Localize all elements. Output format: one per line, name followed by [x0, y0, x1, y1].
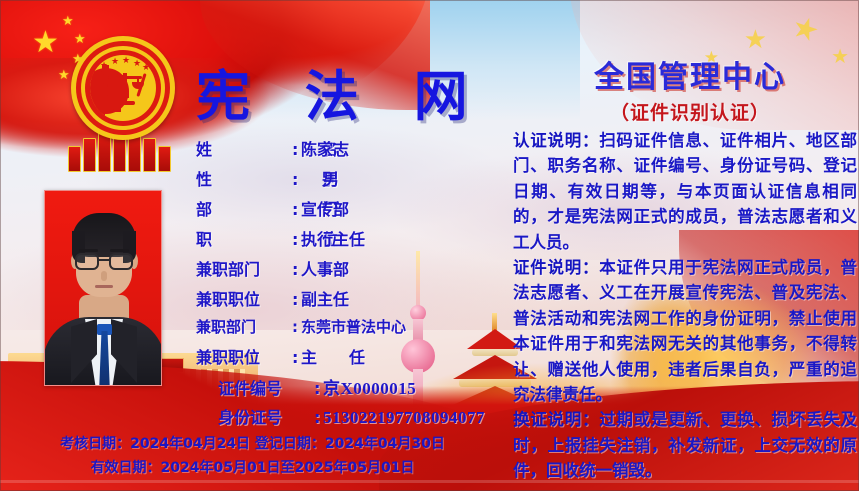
- replacement-note: 换证说明：过期或是更新、更换、损坏丢失及时，上报挂失注销，补发新证，上交无效的原…: [513, 407, 857, 483]
- field-concurrent-department-2-value: 东莞市普法中心: [301, 316, 406, 337]
- field-concurrent-department-label: 兼职部门: [196, 256, 292, 280]
- field-position-label: 职 位: [196, 226, 292, 250]
- field-concurrent-position-2-value: 主 任: [301, 344, 365, 368]
- field-colon: :: [314, 379, 323, 398]
- field-gender: 性 别 : 男: [196, 166, 496, 196]
- flag-star-icon: ★: [744, 24, 767, 55]
- validity-dates: 有效日期：2024年05月01日至2025年05月01日: [0, 456, 505, 480]
- field-department-label: 部 门: [196, 196, 292, 220]
- right-panel-header: 全国管理中心 （证件识别认证）: [525, 52, 855, 125]
- legal-emblem-icon: ★★ ★★ ★: [60, 34, 186, 176]
- field-department: 部 门 : 宣传部: [196, 196, 496, 226]
- field-certificate-number: 证件编号 : 京X0000015: [196, 374, 496, 404]
- field-concurrent-position-2-label: 兼职职位: [196, 344, 292, 368]
- field-colon: :: [292, 290, 301, 309]
- field-gender-value: 男: [301, 166, 339, 190]
- field-certificate-number-value: 京X0000015: [323, 374, 416, 399]
- field-name: 姓 名 : 陈家志: [196, 136, 496, 166]
- field-concurrent-position: 兼职职位 : 副主任: [196, 286, 496, 316]
- field-certificate-number-label: 证件编号: [218, 375, 314, 399]
- replacement-note-heading: 换证说明：: [513, 410, 599, 429]
- field-concurrent-position-label: 兼职职位: [196, 286, 292, 310]
- assessment-registration-dates: 考核日期：2024年04月24日 登记日期：2024年04月30日: [0, 432, 505, 456]
- field-colon: :: [292, 260, 301, 279]
- field-colon: :: [292, 318, 301, 336]
- field-gender-label: 性 别: [196, 166, 292, 190]
- flag-star-icon: ★: [62, 14, 74, 27]
- field-concurrent-position-value: 副主任: [301, 286, 349, 310]
- field-colon: :: [292, 230, 301, 249]
- certification-note-heading: 认证说明：: [513, 131, 599, 150]
- right-panel-body: 认证说明：扫码证件信息、证件相片、地区部门、职务名称、证件编号、身份证号码、登记…: [513, 128, 857, 484]
- field-colon: :: [292, 348, 301, 367]
- certificate-card: ★ ★ ★ ★ ★ ★ ★ ★ ★ 中华人民共和国宪法: [0, 0, 859, 491]
- field-concurrent-department-2: 兼职部门 : 东莞市普法中心: [196, 316, 496, 344]
- flag-star-icon: ★: [32, 28, 59, 58]
- avatar: [44, 190, 162, 386]
- field-id-number-value: 513022197708094077: [323, 408, 485, 428]
- date-block: 考核日期：2024年04月24日 登记日期：2024年04月30日 有效日期：2…: [0, 432, 505, 480]
- certificate-fields: 姓 名 : 陈家志 性 别 : 男 部 门 : 宣传部 职 位 : 执行主任 兼…: [196, 136, 496, 434]
- site-title: 宪 法 网: [196, 52, 486, 131]
- field-position-value: 执行主任: [301, 226, 365, 250]
- field-colon: :: [292, 140, 301, 159]
- field-id-number: 身份证号 : 513022197708094077: [196, 404, 496, 434]
- field-concurrent-position-2: 兼职职位 : 主 任: [196, 344, 496, 374]
- emblem-inner: ★★ ★★ ★: [90, 55, 156, 121]
- field-colon: :: [292, 170, 301, 189]
- field-colon: :: [314, 408, 323, 427]
- field-name-label: 姓 名: [196, 136, 292, 160]
- certificate-note-heading: 证件说明：: [513, 258, 599, 277]
- field-name-value: 陈家志: [301, 136, 349, 160]
- management-center-title: 全国管理中心: [525, 52, 855, 96]
- certificate-note-text: 本证件只用于宪法网正式成员，普法志愿者、义工在开展宣传宪法、普及宪法、普法活动和…: [513, 258, 857, 404]
- scales-of-justice-icon: [108, 65, 142, 105]
- field-concurrent-department: 兼职部门 : 人事部: [196, 256, 496, 286]
- field-id-number-label: 身份证号: [218, 404, 314, 428]
- field-concurrent-department-2-label: 兼职部门: [196, 316, 292, 337]
- flag-star-icon: ★: [787, 9, 823, 51]
- field-concurrent-department-value: 人事部: [301, 256, 349, 280]
- certification-note: 认证说明：扫码证件信息、证件相片、地区部门、职务名称、证件编号、身份证号码、登记…: [513, 128, 857, 255]
- field-department-value: 宣传部: [301, 196, 349, 220]
- field-colon: :: [292, 200, 301, 219]
- field-position: 职 位 : 执行主任: [196, 226, 496, 256]
- management-center-subtitle: （证件识别认证）: [525, 98, 855, 125]
- certificate-note: 证件说明：本证件只用于宪法网正式成员，普法志愿者、义工在开展宣传宪法、普及宪法、…: [513, 255, 857, 407]
